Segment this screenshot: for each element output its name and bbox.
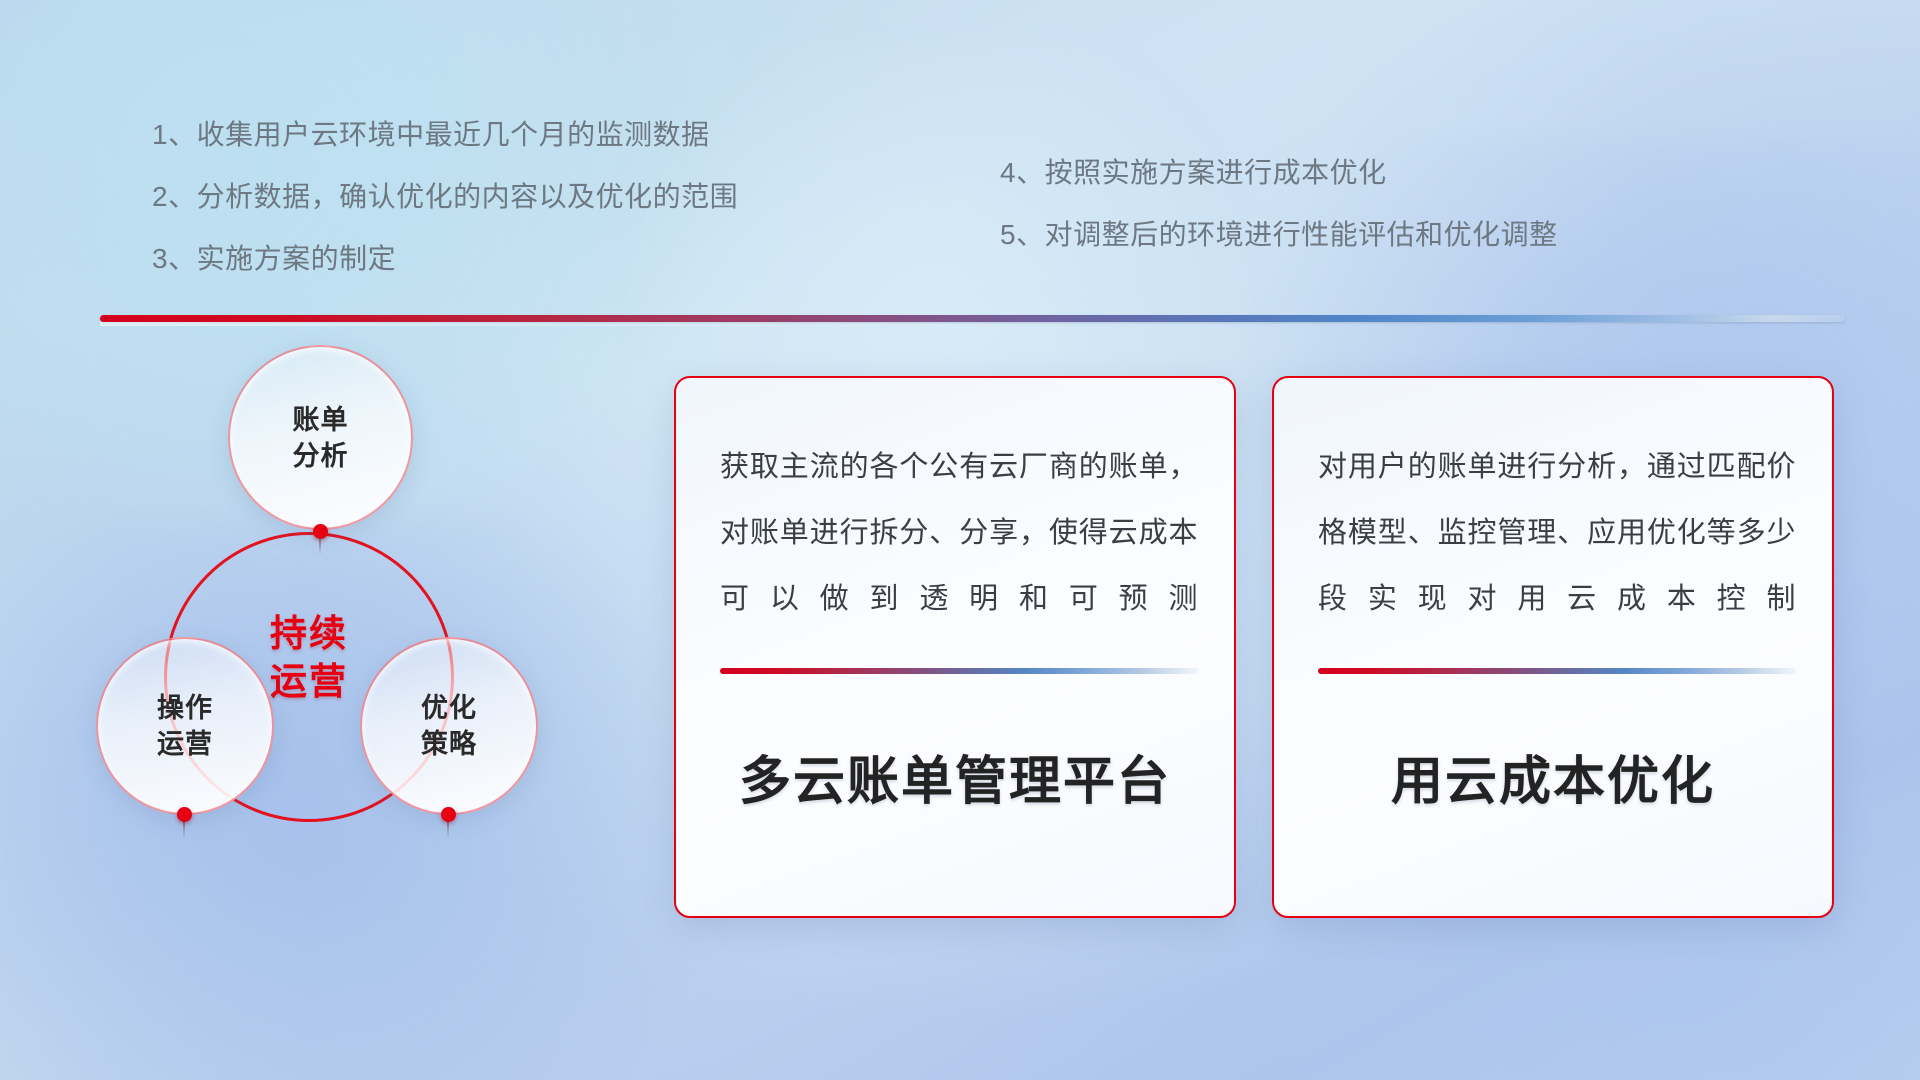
step-item-3: 3、实施方案的制定	[152, 228, 738, 290]
steps-list: 1、收集用户云环境中最近几个月的监测数据 2、分析数据，确认优化的内容以及优化的…	[0, 104, 1920, 294]
diagram-bubble-bottom-right-label: 优化 策略	[421, 690, 477, 762]
step-item-5: 5、对调整后的环境进行性能评估和优化调整	[1000, 204, 1558, 266]
step-item-2: 2、分析数据，确认优化的内容以及优化的范围	[152, 166, 738, 228]
diagram-node-dot-left	[177, 807, 192, 822]
diagram-bubble-bottom-left-label: 操作 运营	[157, 690, 213, 762]
feature-card-1-body: 获取主流的各个公有云厂商的账单，对账单进行拆分、分享，使得云成本可以做到透明和可…	[720, 434, 1198, 632]
feature-card-1-title: 多云账单管理平台	[676, 750, 1234, 814]
slide-canvas: 1、收集用户云环境中最近几个月的监测数据 2、分析数据，确认优化的内容以及优化的…	[0, 0, 1920, 1080]
feature-card-cost-optimization[interactable]: 对用户的账单进行分析，通过匹配价格模型、监控管理、应用优化等多少段实现对用云成本…	[1272, 376, 1834, 918]
feature-card-2-title: 用云成本优化	[1274, 750, 1832, 814]
steps-column-left: 1、收集用户云环境中最近几个月的监测数据 2、分析数据，确认优化的内容以及优化的…	[152, 104, 738, 290]
feature-card-2-body: 对用户的账单进行分析，通过匹配价格模型、监控管理、应用优化等多少段实现对用云成本…	[1318, 434, 1796, 632]
feature-card-2-divider	[1318, 668, 1796, 674]
feature-card-multicloud-billing[interactable]: 获取主流的各个公有云厂商的账单，对账单进行拆分、分享，使得云成本可以做到透明和可…	[674, 376, 1236, 918]
feature-card-1-divider	[720, 668, 1198, 674]
step-item-1: 1、收集用户云环境中最近几个月的监测数据	[152, 104, 738, 166]
diagram-bubble-bill-analysis[interactable]: 账单 分析	[228, 345, 413, 530]
diagram-bubble-optimization-strategy[interactable]: 优化 策略	[360, 637, 538, 815]
header-divider	[100, 315, 1845, 322]
diagram-bubble-operations[interactable]: 操作 运营	[96, 637, 274, 815]
continuous-operation-diagram: 持续 运营 账单 分析 操作 运营 优化 策略	[88, 352, 568, 912]
diagram-node-dot-top	[313, 524, 328, 539]
diagram-bubble-top-label: 账单 分析	[293, 402, 349, 474]
step-item-4: 4、按照实施方案进行成本优化	[1000, 142, 1558, 204]
steps-column-right: 4、按照实施方案进行成本优化 5、对调整后的环境进行性能评估和优化调整	[1000, 142, 1558, 266]
diagram-node-dot-right	[441, 807, 456, 822]
